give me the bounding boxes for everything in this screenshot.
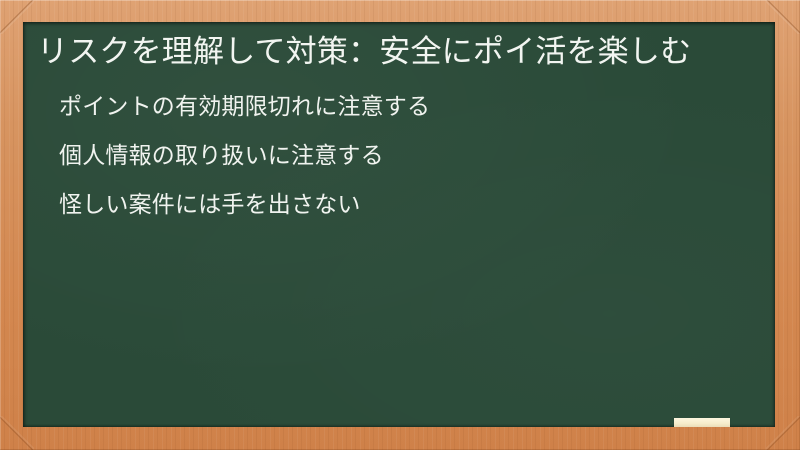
chalkboard-slide: リスクを理解して対策：安全にポイ活を楽しむ ポイントの有効期限切れに注意する 個… bbox=[0, 0, 800, 450]
list-item: 個人情報の取り扱いに注意する bbox=[59, 145, 759, 168]
list-item: ポイントの有効期限切れに注意する bbox=[59, 96, 759, 119]
chalk-stick-icon bbox=[674, 418, 730, 427]
chalkboard-surface: リスクを理解して対策：安全にポイ活を楽しむ ポイントの有効期限切れに注意する 個… bbox=[23, 22, 775, 427]
slide-title: リスクを理解して対策：安全にポイ活を楽しむ bbox=[37, 32, 737, 72]
list-item: 怪しい案件には手を出さない bbox=[59, 194, 759, 217]
bullet-list: ポイントの有効期限切れに注意する 個人情報の取り扱いに注意する 怪しい案件には手… bbox=[37, 96, 759, 217]
board-content: リスクを理解して対策：安全にポイ活を楽しむ ポイントの有効期限切れに注意する 個… bbox=[23, 22, 775, 217]
